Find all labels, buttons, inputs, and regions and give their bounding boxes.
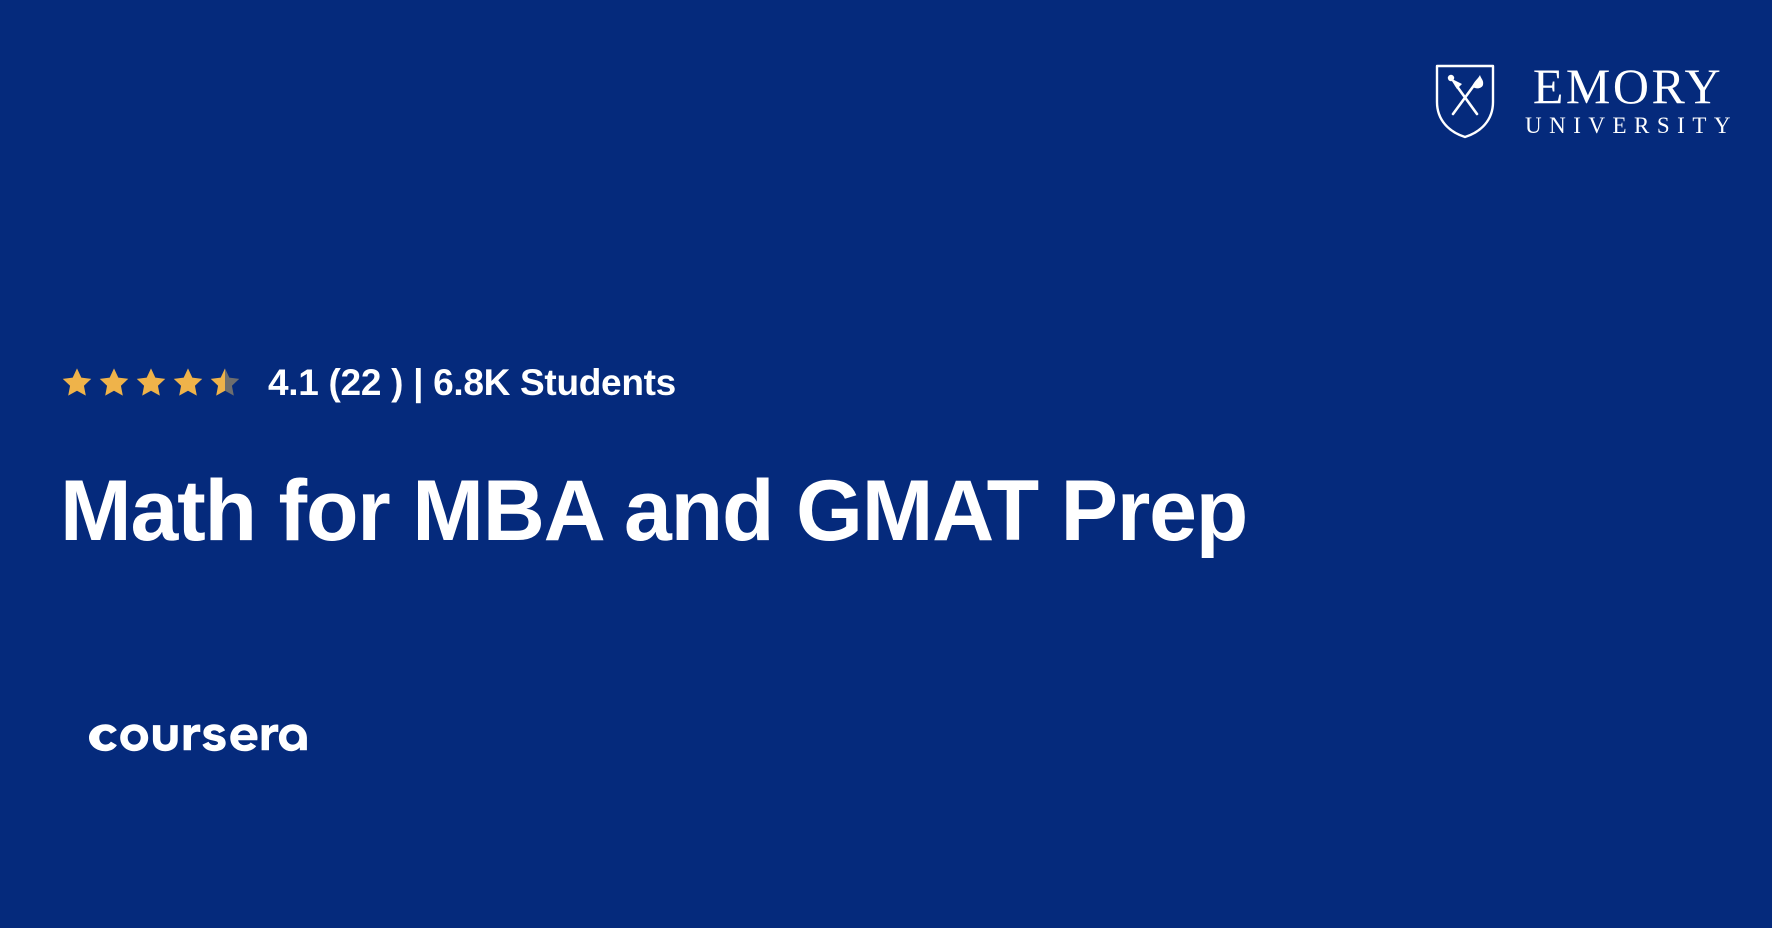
rating-row: 4.1 (22 ) | 6.8K Students	[62, 358, 676, 406]
emory-shield-crossed-torches-icon	[1434, 62, 1496, 140]
coursera-wordmark-icon	[88, 713, 320, 761]
course-banner: EMORY UNIVERSITY	[0, 0, 1772, 928]
star-filled-icon	[136, 367, 166, 397]
page-title: Math for MBA and GMAT Prep	[60, 462, 1247, 561]
star-filled-icon	[62, 367, 92, 397]
rating-text: 4.1 (22 ) | 6.8K Students	[268, 364, 676, 401]
university-name: EMORY	[1533, 62, 1723, 110]
star-rating	[62, 367, 240, 397]
university-subtitle: UNIVERSITY	[1518, 113, 1738, 139]
university-logo: EMORY UNIVERSITY	[1434, 62, 1738, 140]
star-filled-icon	[99, 367, 129, 397]
university-wordmark: EMORY UNIVERSITY	[1518, 62, 1738, 139]
star-filled-icon	[173, 367, 203, 397]
star-half-icon	[210, 367, 240, 397]
